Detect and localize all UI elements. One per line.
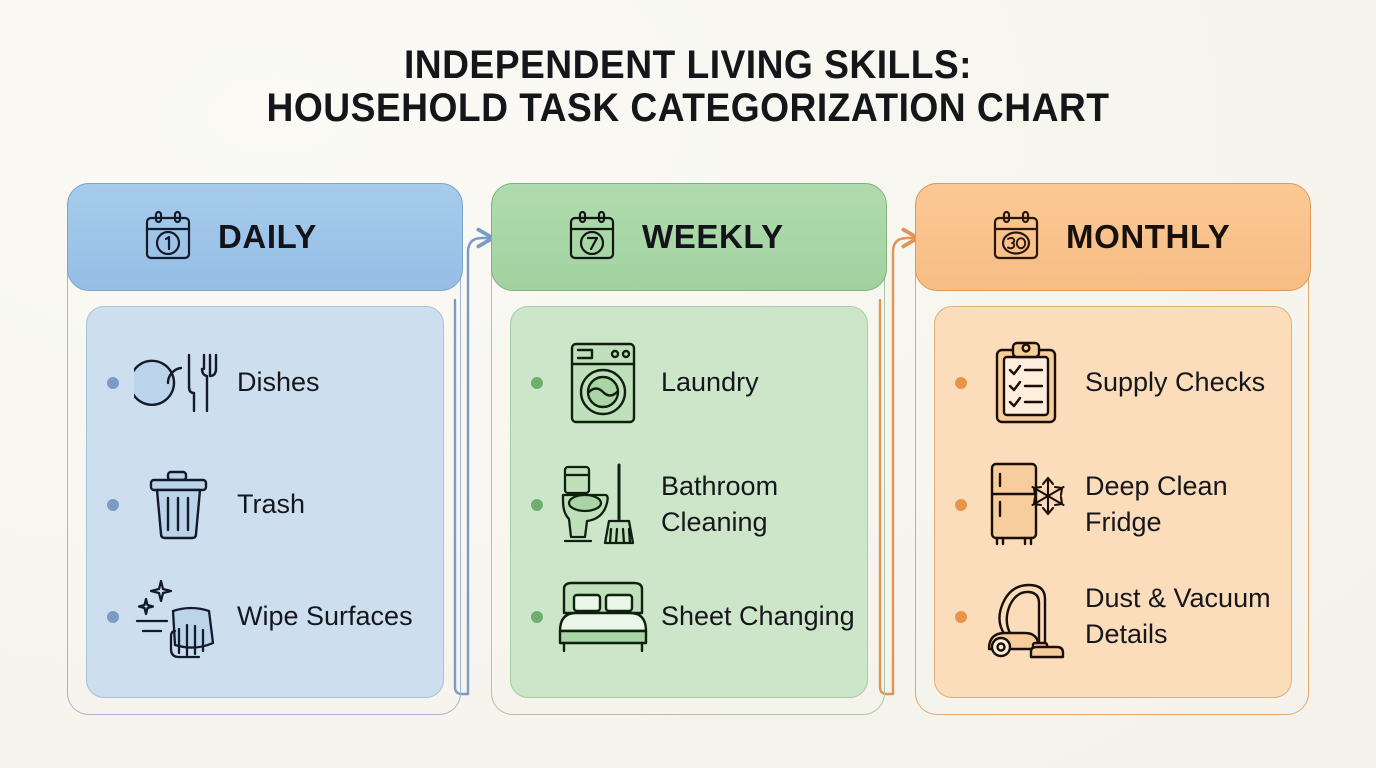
task-item[interactable]: Deep Clean Fridge: [935, 457, 1293, 553]
column-daily-title: DAILY: [218, 218, 317, 256]
vacuum-cleaner-icon: [979, 569, 1075, 665]
column-weekly-task-list: Laundry: [511, 307, 869, 699]
calendar-7-icon: [564, 209, 620, 265]
task-item[interactable]: Trash: [87, 457, 445, 553]
calendar-1-icon: [140, 209, 196, 265]
task-label: Deep Clean Fridge: [1085, 469, 1285, 540]
column-monthly-title: MONTHLY: [1066, 218, 1230, 256]
title-line-2: HOUSEHOLD TASK CATEGORIZATION CHART: [48, 87, 1328, 130]
bullet-dot: [955, 611, 967, 623]
trash-can-icon: [131, 457, 227, 553]
task-item[interactable]: Dishes: [87, 335, 445, 431]
bullet-dot: [107, 499, 119, 511]
column-daily-body: Dishes: [86, 306, 444, 698]
bullet-dot: [955, 499, 967, 511]
task-label: Dishes: [237, 365, 320, 401]
bullet-dot: [531, 377, 543, 389]
bed-icon: [555, 569, 651, 665]
column-monthly-body: Supply Checks: [934, 306, 1292, 698]
bullet-dot: [107, 611, 119, 623]
column-daily-task-list: Dishes: [87, 307, 445, 699]
column-monthly-header[interactable]: MONTHLY: [915, 183, 1311, 291]
bullet-dot: [531, 611, 543, 623]
fridge-snowflake-icon: [979, 457, 1075, 553]
column-monthly-task-list: Supply Checks: [935, 307, 1293, 699]
column-monthly[interactable]: MONTHLY: [915, 183, 1309, 715]
wipe-cloth-icon: [131, 569, 227, 665]
column-weekly-header[interactable]: WEEKLY: [491, 183, 887, 291]
column-weekly[interactable]: WEEKLY: [491, 183, 885, 715]
task-label: Bathroom Cleaning: [661, 469, 861, 540]
task-item[interactable]: Supply Checks: [935, 335, 1293, 431]
task-label: Supply Checks: [1085, 365, 1265, 401]
bullet-dot: [955, 377, 967, 389]
clipboard-checklist-icon: [979, 335, 1075, 431]
task-label: Dust & Vacuum Details: [1085, 581, 1285, 652]
column-weekly-title: WEEKLY: [642, 218, 784, 256]
toilet-brush-icon: [555, 457, 651, 553]
task-label: Wipe Surfaces: [237, 599, 413, 635]
task-item[interactable]: Wipe Surfaces: [87, 569, 445, 665]
column-daily-header[interactable]: DAILY: [67, 183, 463, 291]
infographic-canvas: INDEPENDENT LIVING SKILLS: HOUSEHOLD TAS…: [0, 0, 1376, 768]
task-label: Sheet Changing: [661, 599, 855, 635]
bullet-dot: [531, 499, 543, 511]
task-columns: DAILY: [0, 183, 1376, 718]
column-weekly-body: Laundry: [510, 306, 868, 698]
task-item[interactable]: Sheet Changing: [511, 569, 869, 665]
washing-machine-icon: [555, 335, 651, 431]
dishes-icon: [131, 335, 227, 431]
task-label: Trash: [237, 487, 305, 523]
chart-title: INDEPENDENT LIVING SKILLS: HOUSEHOLD TAS…: [0, 44, 1376, 130]
column-daily[interactable]: DAILY: [67, 183, 461, 715]
title-line-1: INDEPENDENT LIVING SKILLS:: [48, 44, 1328, 87]
task-item[interactable]: Bathroom Cleaning: [511, 457, 869, 553]
bullet-dot: [107, 377, 119, 389]
calendar-30-icon: [988, 209, 1044, 265]
task-item[interactable]: Laundry: [511, 335, 869, 431]
task-label: Laundry: [661, 365, 759, 401]
task-item[interactable]: Dust & Vacuum Details: [935, 569, 1293, 665]
